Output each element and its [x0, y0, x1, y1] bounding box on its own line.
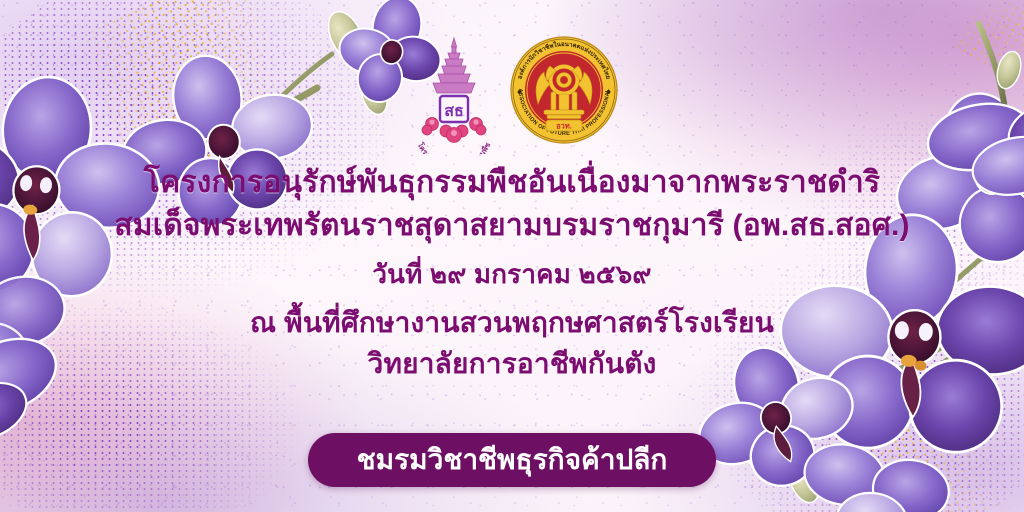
- event-banner: ตราสัญลักษณ์โครงการอนุรักษ์พันธุกรรมพืช …: [0, 0, 1024, 512]
- heading-block: โครงการอนุรักษ์พันธุกรรมพืชอันเนื่องมาจา…: [0, 168, 1024, 378]
- club-badge[interactable]: ชมรมวิชาชีพธุรกิจค้าปลีก: [308, 433, 716, 487]
- logo-row: ตราสัญลักษณ์โครงการอนุรักษ์พันธุกรรมพืช …: [0, 34, 1024, 154]
- heading-line-2: สมเด็จพระเทพรัตนราชสุดาสยามบรมราชกุมารี …: [28, 211, 996, 241]
- ftp-association-seal-icon: องค์การนักวิชาชีพในอนาคตแห่งประเทศไทย อง…: [510, 36, 618, 144]
- venue-line-1: ณ พื้นที่ศึกษางานสวนพฤกษศาสตร์โรงเรียน: [28, 309, 996, 337]
- heading-line-1: โครงการอนุรักษ์พันธุกรรมพืชอันเนื่องมาจา…: [28, 168, 996, 198]
- ftp-abbreviation-text: อวท.: [556, 121, 572, 130]
- club-badge-container: ชมรมวิชาชีพธุรกิจค้าปลีก: [0, 433, 1024, 487]
- rspg-royal-emblem-icon: ตราสัญลักษณ์โครงการอนุรักษ์พันธุกรรมพืช …: [406, 34, 502, 154]
- rspg-monogram-text: สธ: [444, 103, 464, 120]
- event-date-line: วันที่ ๒๙ มกราคม ๒๕๖๙: [28, 261, 996, 287]
- venue-line-2: วิทยาลัยการอาชีพกันตัง: [28, 350, 996, 378]
